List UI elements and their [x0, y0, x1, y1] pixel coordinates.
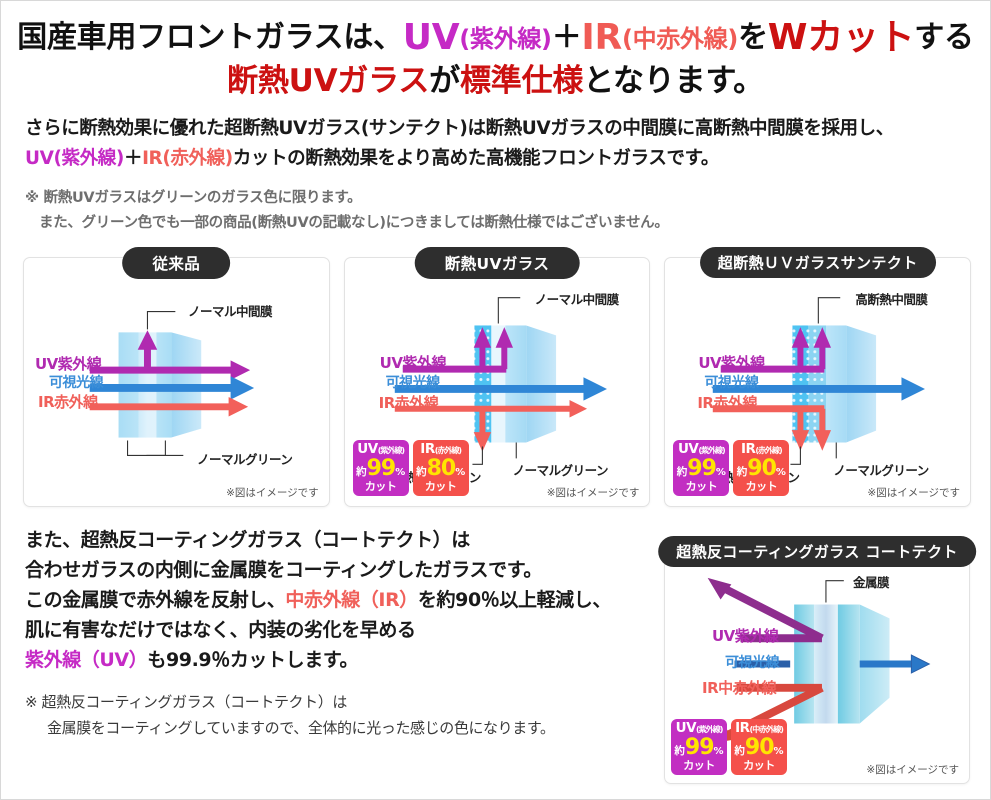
headline-plus: ＋ — [552, 20, 582, 55]
ray-label-visible: 可視光線 — [386, 372, 440, 392]
lead-uv: UV(紫外線) — [25, 148, 124, 169]
badge-ir-yaku: 約 — [734, 745, 745, 757]
badge-ir-pct: % — [455, 467, 465, 478]
panel-heat-uv: 断熱UVガラス — [344, 257, 651, 507]
badge-uv-head-sub: (紫外線) — [698, 446, 724, 455]
headline-uv: UV — [403, 17, 460, 58]
coattect-line-5: 紫外線（UV）も99.9％カットします。 — [25, 645, 645, 675]
badge-ir-num: 90 — [745, 735, 774, 760]
headline-ir: IR — [581, 17, 622, 58]
badge-uv-cut: カット — [673, 481, 729, 492]
badge-uv-num: 99 — [687, 456, 716, 481]
panel-suntect-badges: UV(紫外線) 約99% カット IR(赤外線) 約90% カット — [673, 440, 789, 497]
coattect-line-4: 肌に有害なだけではなく、内装の劣化を早める — [25, 615, 645, 645]
coattect-description: また、超熱反コーティングガラス（コートテクト）は 合わせガラスの内側に金属膜をコ… — [25, 525, 645, 741]
badge-uv-value: 約99% — [673, 458, 729, 480]
badge-uv-num: 99 — [685, 735, 714, 760]
headline-tonarimasu: となります。 — [583, 63, 764, 99]
badge-uv-value: 約99% — [671, 737, 727, 759]
headline-suru: する — [914, 20, 973, 55]
panel-conventional-image-note: ※図はイメージです — [226, 485, 319, 500]
badge-uv-head-main: UV — [357, 441, 377, 457]
top-note-line-2: また、グリーン色でも一部の商品(断熱UVの記載なし)につきましては断熱仕様ではご… — [25, 211, 990, 236]
coattect-note-line-1: ※ 超熱反コーティングガラス（コートテクト）は — [25, 693, 347, 711]
panel-coat-tect-badges: UV(紫外線) 約99% カット IR(中赤外線) 約90% カット — [671, 719, 787, 776]
ray-label-uv: UV紫外線 — [380, 352, 446, 373]
badge-uv-head-main: UV — [676, 720, 696, 736]
lead-ir: IR(赤外線) — [142, 148, 233, 169]
label-high-heat-interlayer: 高断熱中間膜 — [855, 289, 927, 308]
label-normal-interlayer: ノーマル中間膜 — [535, 289, 619, 308]
coattect-l3c: を約90％以上軽減し、 — [418, 589, 611, 611]
panel-conventional: 従来品 — [23, 257, 330, 507]
headline-ga: が — [429, 63, 460, 99]
badge-uv-head-sub: (紫外線) — [378, 446, 404, 455]
lead-plus: ＋ — [124, 148, 142, 169]
badge-ir-num: 80 — [427, 456, 456, 481]
panel-coat-tect: 超熱反コーティングガラス コートテクト — [664, 546, 970, 784]
infographic-page: 国産車用フロントガラスは、UV(紫外線)＋IR(中赤外線)をWカットする 断熱U… — [0, 0, 991, 800]
label-normal-green: ノーマルグリーン — [513, 460, 608, 479]
panel-heat-uv-badges: UV(紫外線) 約99% カット IR(赤外線) 約80% カット — [353, 440, 469, 497]
badge-ir-head: IR(赤外線) — [733, 443, 789, 457]
ray-label-uv: UV紫外線 — [712, 625, 778, 646]
top-note: ※ 断熱UVガラスはグリーンのガラス色に限ります。 また、グリーン色でも一部の商… — [25, 186, 990, 236]
headline-ir-paren: (中赤外線) — [622, 25, 738, 53]
headline-wo: を — [738, 20, 768, 55]
ray-label-uv: UV紫外線 — [698, 352, 764, 373]
coattect-line-2: 合わせガラスの内側に金属膜をコーティングしたガラスです。 — [25, 555, 645, 585]
ray-label-ir: IR赤外線 — [379, 392, 439, 413]
badge-uv-pct: % — [395, 467, 405, 478]
coattect-line-3: この金属膜で赤外線を反射し、中赤外線（IR）を約90％以上軽減し、 — [25, 585, 645, 615]
top-note-line-1: ※ 断熱UVガラスはグリーンのガラス色に限ります。 — [25, 190, 361, 206]
ray-label-ir: IR中赤外線 — [702, 677, 776, 698]
ray-label-ir: IR赤外線 — [38, 391, 98, 412]
lead-paragraph: さらに断熱効果に優れた超断熱UVガラス(サンテクト)は断熱UVガラスの中間膜に高… — [25, 114, 990, 174]
badge-uv-cut: カット — [671, 760, 727, 771]
badge-ir-head-main: IR — [741, 441, 755, 457]
badge-ir-head-sub: (赤外線) — [435, 446, 461, 455]
badge-ir-head-main: IR — [420, 441, 434, 457]
panel-heat-uv-image-note: ※図はイメージです — [547, 485, 640, 500]
coattect-l3a: この金属膜で赤外線を反射し、 — [25, 589, 285, 611]
badge-ir: IR(中赤外線) 約90% カット — [731, 719, 787, 776]
badge-ir-yaku: 約 — [416, 466, 427, 478]
coattect-note: ※ 超熱反コーティングガラス（コートテクト）は 金属膜をコーティングしていますの… — [25, 689, 645, 741]
ray-label-uv: UV紫外線 — [35, 353, 101, 374]
label-normal-interlayer: ノーマル中間膜 — [188, 301, 272, 320]
headline-heatuv: 断熱UVガラス — [227, 63, 429, 99]
coattect-note-line-2: 金属膜をコーティングしていますので、全体的に光った感じの色になります。 — [25, 715, 645, 741]
badge-ir-yaku: 約 — [737, 466, 748, 478]
badge-ir-value: 約80% — [413, 458, 469, 480]
badge-ir-head: IR(赤外線) — [413, 443, 469, 457]
badge-uv-head: UV(紫外線) — [671, 722, 727, 736]
badge-uv: UV(紫外線) 約99% カット — [673, 440, 729, 497]
badge-ir-head-main: IR — [735, 720, 749, 736]
badge-uv-head-sub: (紫外線) — [696, 725, 722, 734]
page-title: 国産車用フロントガラスは、UV(紫外線)＋IR(中赤外線)をWカットする 断熱U… — [1, 1, 990, 100]
label-normal-green: ノーマルグリーン — [197, 449, 292, 468]
panel-coat-tect-image-note: ※図はイメージです — [866, 762, 959, 777]
badge-ir-cut: カット — [733, 481, 789, 492]
headline-line-1: 国産車用フロントガラスは、UV(紫外線)＋IR(中赤外線)をWカットする — [1, 17, 990, 59]
headline-prefix: 国産車用フロントガラスは、 — [17, 20, 403, 55]
panel-suntect-image-note: ※図はイメージです — [867, 485, 960, 500]
headline-line-2: 断熱UVガラスが標準仕様となります。 — [1, 63, 990, 100]
badge-uv-head: UV(紫外線) — [353, 443, 409, 457]
headline-wcut: Wカット — [768, 17, 915, 58]
badge-uv-yaku: 約 — [674, 745, 685, 757]
badge-uv: UV(紫外線) 約99% カット — [353, 440, 409, 497]
label-metal-film: 金属膜 — [853, 572, 889, 591]
badge-ir-head: IR(中赤外線) — [731, 722, 787, 736]
badge-ir-cut: カット — [731, 760, 787, 771]
badge-ir-head-sub: (赤外線) — [755, 446, 781, 455]
ray-label-visible: 可視光線 — [725, 652, 779, 672]
ray-label-ir: IR赤外線 — [697, 392, 757, 413]
ray-label-visible: 可視光線 — [49, 372, 103, 392]
badge-ir-head-sub: (中赤外線) — [750, 725, 783, 734]
badge-uv-pct: % — [714, 746, 724, 757]
lead-line-2: UV(紫外線)＋IR(赤外線)カットの断熱効果をより高めた高機能フロントガラスで… — [25, 144, 990, 174]
badge-ir-cut: カット — [413, 481, 469, 492]
badge-ir-pct: % — [774, 746, 784, 757]
badge-ir-value: 約90% — [731, 737, 787, 759]
comparison-panels: 従来品 — [23, 257, 971, 507]
badge-ir-num: 90 — [747, 456, 776, 481]
badge-uv-value: 約99% — [353, 458, 409, 480]
label-normal-green: ノーマルグリーン — [833, 460, 928, 479]
badge-uv-yaku: 約 — [677, 466, 688, 478]
coattect-l3-ir: 中赤外線（IR） — [285, 589, 418, 611]
lead-rest: カットの断熱効果をより高めた高機能フロントガラスです。 — [233, 148, 719, 169]
badge-ir-value: 約90% — [733, 458, 789, 480]
coattect-l5b: も99.9％カットします。 — [147, 649, 358, 671]
coattect-l5-uv: 紫外線（UV） — [25, 649, 147, 671]
badge-uv-cut: カット — [353, 481, 409, 492]
badge-uv: UV(紫外線) 約99% カット — [671, 719, 727, 776]
badge-ir-pct: % — [776, 467, 786, 478]
badge-ir: IR(赤外線) 約80% カット — [413, 440, 469, 497]
headline-uv-paren: (紫外線) — [459, 25, 551, 53]
ray-label-visible: 可視光線 — [704, 372, 758, 392]
badge-uv-pct: % — [716, 467, 726, 478]
lead-line-1: さらに断熱効果に優れた超断熱UVガラス(サンテクト)は断熱UVガラスの中間膜に高… — [25, 114, 990, 144]
badge-uv-head-main: UV — [678, 441, 698, 457]
badge-ir: IR(赤外線) 約90% カット — [733, 440, 789, 497]
panel-suntect: 超断熱ＵＶガラスサンテクト — [664, 257, 971, 507]
badge-uv-num: 99 — [367, 456, 396, 481]
coattect-line-1: また、超熱反コーティングガラス（コートテクト）は — [25, 525, 645, 555]
badge-uv-head: UV(紫外線) — [673, 443, 729, 457]
headline-standard: 標準仕様 — [460, 63, 583, 99]
badge-uv-yaku: 約 — [356, 466, 367, 478]
